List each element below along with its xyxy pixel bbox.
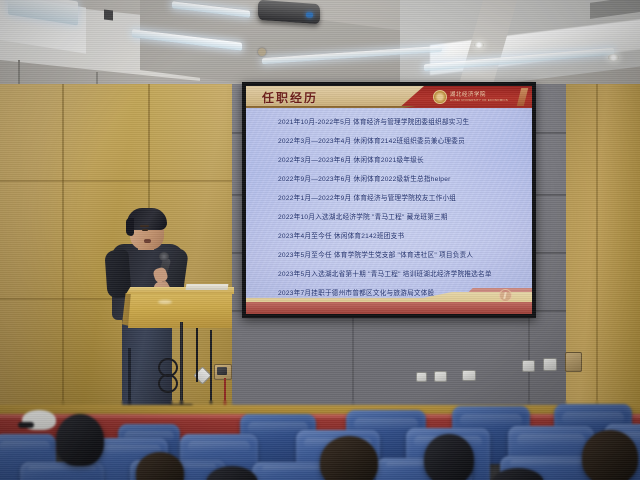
university-name: 湖北经济学院 (450, 92, 508, 99)
presenter-eyebrow (140, 225, 149, 227)
lectern-highlight (158, 300, 172, 304)
slide-title: 任职经历 (262, 89, 318, 106)
stage-edge-highlight (0, 414, 640, 418)
presenter-hair-side (126, 218, 134, 236)
audience-head (320, 436, 378, 480)
wall-outlet-brass[interactable] (565, 352, 582, 372)
presenter-eye (142, 229, 148, 231)
slide-bullet-3: 2022年3月—2023年6月 休闲体育2021级年级长 (278, 154, 424, 164)
ceiling-mount (104, 10, 113, 21)
slide-footer-red (246, 302, 532, 314)
slide-body: 2021年10月-2022年5月 体育经济与管理学院团委组织部实习生 2022年… (246, 108, 532, 292)
panel-seam (0, 180, 232, 182)
lectern-papers (186, 284, 229, 290)
slide-bullet-8: 2023年5月至今任 体育学院学生党支部 "体育进社区" 项目负责人 (278, 249, 473, 259)
microphone-head-icon (159, 252, 169, 261)
slide-bullet-9: 2023年5月入选湖北省第十期 "青马工程" 培训班湖北经济学院推选名单 (278, 268, 492, 278)
audience-cap (22, 410, 56, 430)
audience-head (424, 434, 474, 480)
wall-socket-square[interactable] (522, 360, 535, 372)
ceiling-hanger (18, 60, 20, 84)
microphone-stand (180, 322, 183, 414)
audience-head (56, 414, 104, 466)
slide-bullet-6: 2022年10月入选湖北经济学院 "青马工程" 藏龙班第三期 (278, 211, 448, 221)
wall-socket-square[interactable] (462, 370, 476, 381)
downlight-icon (474, 42, 484, 48)
stand-decoration (158, 358, 174, 390)
university-logo: 湖北经济学院 HUBEI UNIVERSITY OF ECONOMICS (433, 90, 508, 104)
projector (258, 0, 320, 24)
projector-lens-icon (306, 12, 313, 17)
panel-seam (596, 84, 598, 414)
sprinkler-icon (258, 48, 266, 56)
wall-socket-square[interactable] (416, 372, 427, 382)
slide-bullet-4: 2022年9月—2023年6月 休闲体育2022级新生总指helper (278, 173, 451, 183)
presenter-mouth (144, 239, 151, 243)
presenter-sleeve-left (104, 249, 131, 299)
auditorium-photo: 湖北经济学院 HUBEI UNIVERSITY OF ECONOMICS 任职经… (0, 0, 640, 480)
presentation-slide[interactable]: 湖北经济学院 HUBEI UNIVERSITY OF ECONOMICS 任职经… (246, 86, 532, 314)
slide-bullet-2: 2022年3月—2023年4月 休闲体育2142班组织委员兼心理委员 (278, 135, 465, 145)
panel-seam (62, 84, 64, 414)
wall-socket-square[interactable] (434, 371, 447, 382)
seat (20, 462, 104, 480)
university-name-en: HUBEI UNIVERSITY OF ECONOMICS (450, 98, 508, 102)
slide-bullet-5: 2022年1月—2022年9月 体育经济与管理学院校友工作小组 (278, 192, 456, 202)
slide-header-accent (517, 88, 528, 106)
ring-icon (158, 374, 178, 393)
downlight-icon (608, 54, 619, 61)
slide-bullet-7: 2023年4月至今任 休闲体育2142班团支书 (278, 230, 404, 240)
university-seal-icon (433, 90, 447, 104)
wall-socket-square[interactable] (543, 358, 557, 371)
slide-footer-band (246, 288, 532, 314)
slide-bullet-1: 2021年10月-2022年5月 体育经济与管理学院团委组织部实习生 (278, 116, 469, 126)
ceiling (0, 0, 640, 86)
slide-footer-seal-icon (499, 289, 512, 302)
audience-head (582, 430, 638, 480)
